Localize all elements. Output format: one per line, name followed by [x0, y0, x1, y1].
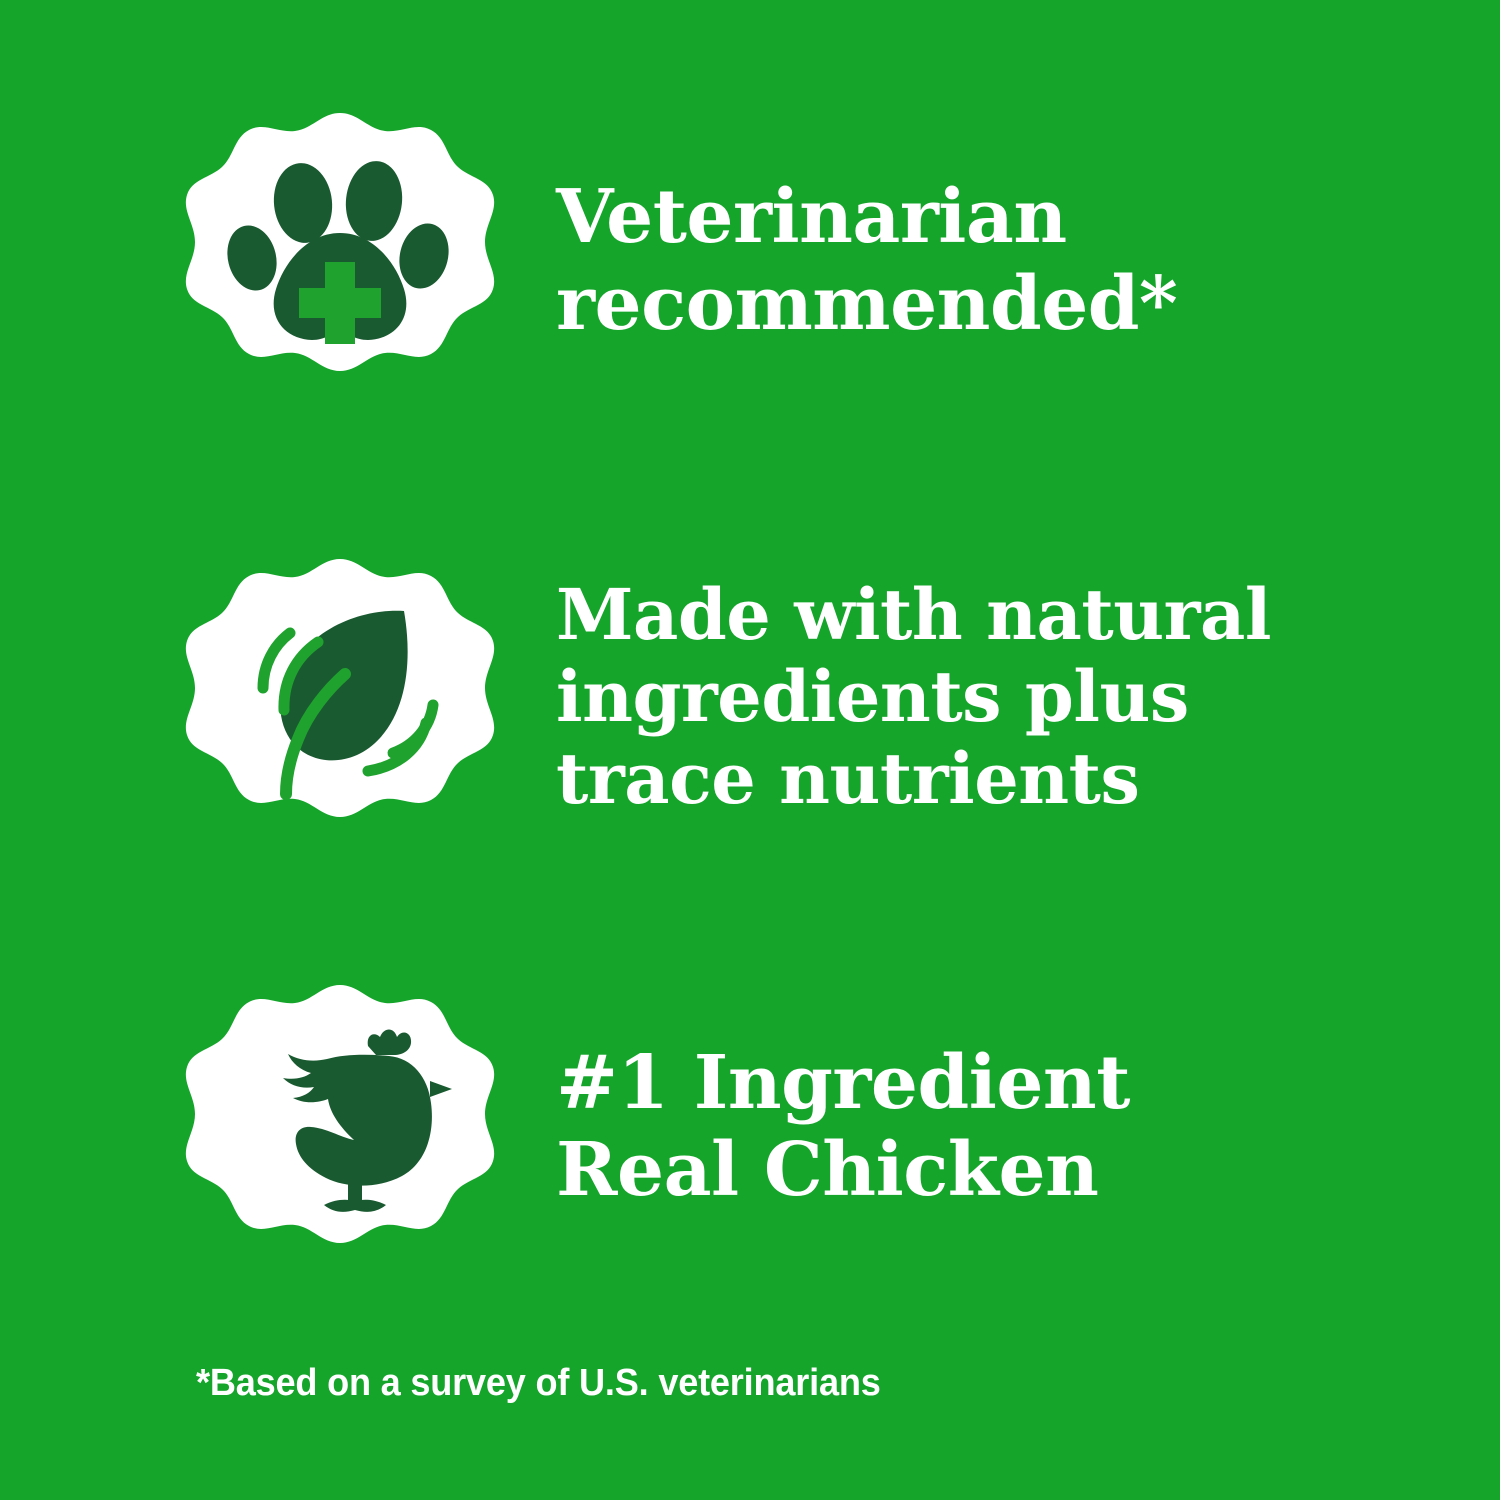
badge-real-chicken [190, 968, 490, 1286]
leaf-with-motion-arcs-icon [190, 538, 490, 856]
badge-natural-ingredients [190, 538, 490, 856]
feature-text-real-chicken: #1 Ingredient Real Chicken [556, 1040, 1500, 1213]
paw-with-medical-cross-icon [190, 108, 490, 414]
badge-veterinarian [190, 108, 490, 414]
chicken-hen-icon [190, 968, 490, 1286]
feature-row-real-chicken: #1 Ingredient Real Chicken [0, 968, 1500, 1286]
feature-text-veterinarian: Veterinarian recommended* [556, 174, 1500, 347]
feature-row-natural-ingredients: Made with natural ingredients plus trace… [0, 538, 1500, 856]
feature-text-natural-ingredients: Made with natural ingredients plus trace… [556, 574, 1500, 820]
footnote-disclaimer: *Based on a survey of U.S. veterinarians [196, 1362, 881, 1405]
feature-list: Veterinarian recommended* Made with natu… [0, 0, 1500, 1500]
feature-row-veterinarian: Veterinarian recommended* [0, 108, 1500, 414]
